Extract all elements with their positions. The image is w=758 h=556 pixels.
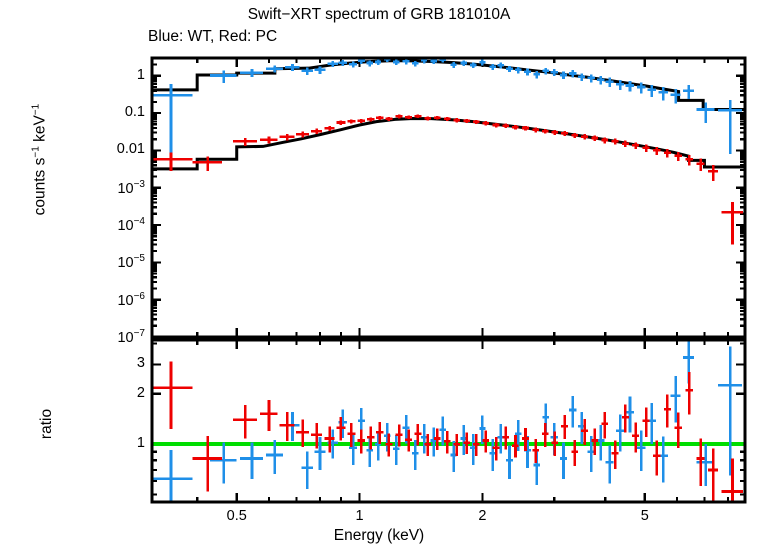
- ratio-point-pc: [561, 415, 568, 439]
- ratio-point-pc: [686, 372, 693, 415]
- ratio-point-pc: [643, 407, 650, 437]
- y-tick-label: 1: [55, 435, 145, 451]
- datapoint-wt: [461, 60, 467, 66]
- spectrum-plot: [0, 0, 758, 556]
- y-tick-label: 10−7: [55, 328, 145, 346]
- y-tick-label: 0.1: [55, 104, 145, 120]
- main-panel-frame: [152, 58, 745, 337]
- datapoint-wt: [683, 85, 694, 99]
- ratio-point-wt: [210, 443, 237, 484]
- ratio-point-wt: [647, 403, 656, 444]
- datapoint-wt: [578, 73, 585, 81]
- ratio-point-pc: [444, 431, 451, 453]
- datapoint-wt: [697, 102, 715, 123]
- x-tick-label: 5: [625, 508, 665, 524]
- datapoint-pc: [376, 116, 383, 120]
- x-tick-label: 1: [340, 508, 380, 524]
- ratio-point-pc: [260, 400, 278, 431]
- datapoint-pc: [721, 202, 743, 244]
- y-tick-label: 2: [55, 385, 145, 401]
- model-curve-pc: [152, 118, 745, 168]
- y-tick-label: 10−4: [55, 216, 145, 234]
- ratio-point-pc: [664, 395, 671, 428]
- ratio-point-wt: [560, 443, 567, 479]
- ratio-point-wt: [569, 396, 576, 427]
- datapoint-pc: [347, 119, 355, 123]
- datapoint-wt: [588, 74, 596, 82]
- ratio-point-wt: [606, 446, 614, 484]
- ratio-point-pc: [721, 458, 743, 553]
- y-tick-label: 0.01: [55, 141, 145, 157]
- ratio-point-wt: [421, 424, 427, 453]
- ratio-point-wt: [626, 396, 634, 432]
- datapoint-wt: [210, 70, 237, 83]
- ratio-point-pc: [601, 412, 608, 439]
- y-tick-label: 1: [55, 67, 145, 83]
- ratio-point-pc: [233, 405, 257, 439]
- datapoint-pc: [336, 120, 345, 124]
- main-panel-frame-overlay: [152, 58, 745, 337]
- model-curve-wt: [152, 61, 745, 110]
- datapoint-pc: [357, 119, 365, 123]
- ratio-point-pc: [357, 430, 365, 454]
- y-tick-label: 10−5: [55, 253, 145, 271]
- ratio-point-wt: [506, 446, 513, 479]
- ratio-point-wt: [240, 443, 263, 479]
- ratio-point-wt: [301, 452, 313, 489]
- x-tick-label: 2: [462, 508, 502, 524]
- datapoint-wt: [551, 69, 558, 76]
- y-tick-label: 10−6: [55, 291, 145, 309]
- datapoint-pc: [233, 138, 257, 146]
- ratio-point-pc: [552, 431, 559, 455]
- ratio-point-pc: [708, 449, 718, 501]
- datapoint-wt: [718, 100, 742, 154]
- ratio-point-wt: [616, 415, 624, 452]
- x-tick-label: 0.5: [217, 508, 257, 524]
- datapoint-wt: [240, 69, 263, 77]
- ratio-point-pc: [622, 404, 629, 432]
- y-tick-label: 10−3: [55, 179, 145, 197]
- ratio-point-wt: [718, 346, 742, 475]
- datapoint-wt: [266, 66, 283, 73]
- y-tick-label: 3: [55, 355, 145, 371]
